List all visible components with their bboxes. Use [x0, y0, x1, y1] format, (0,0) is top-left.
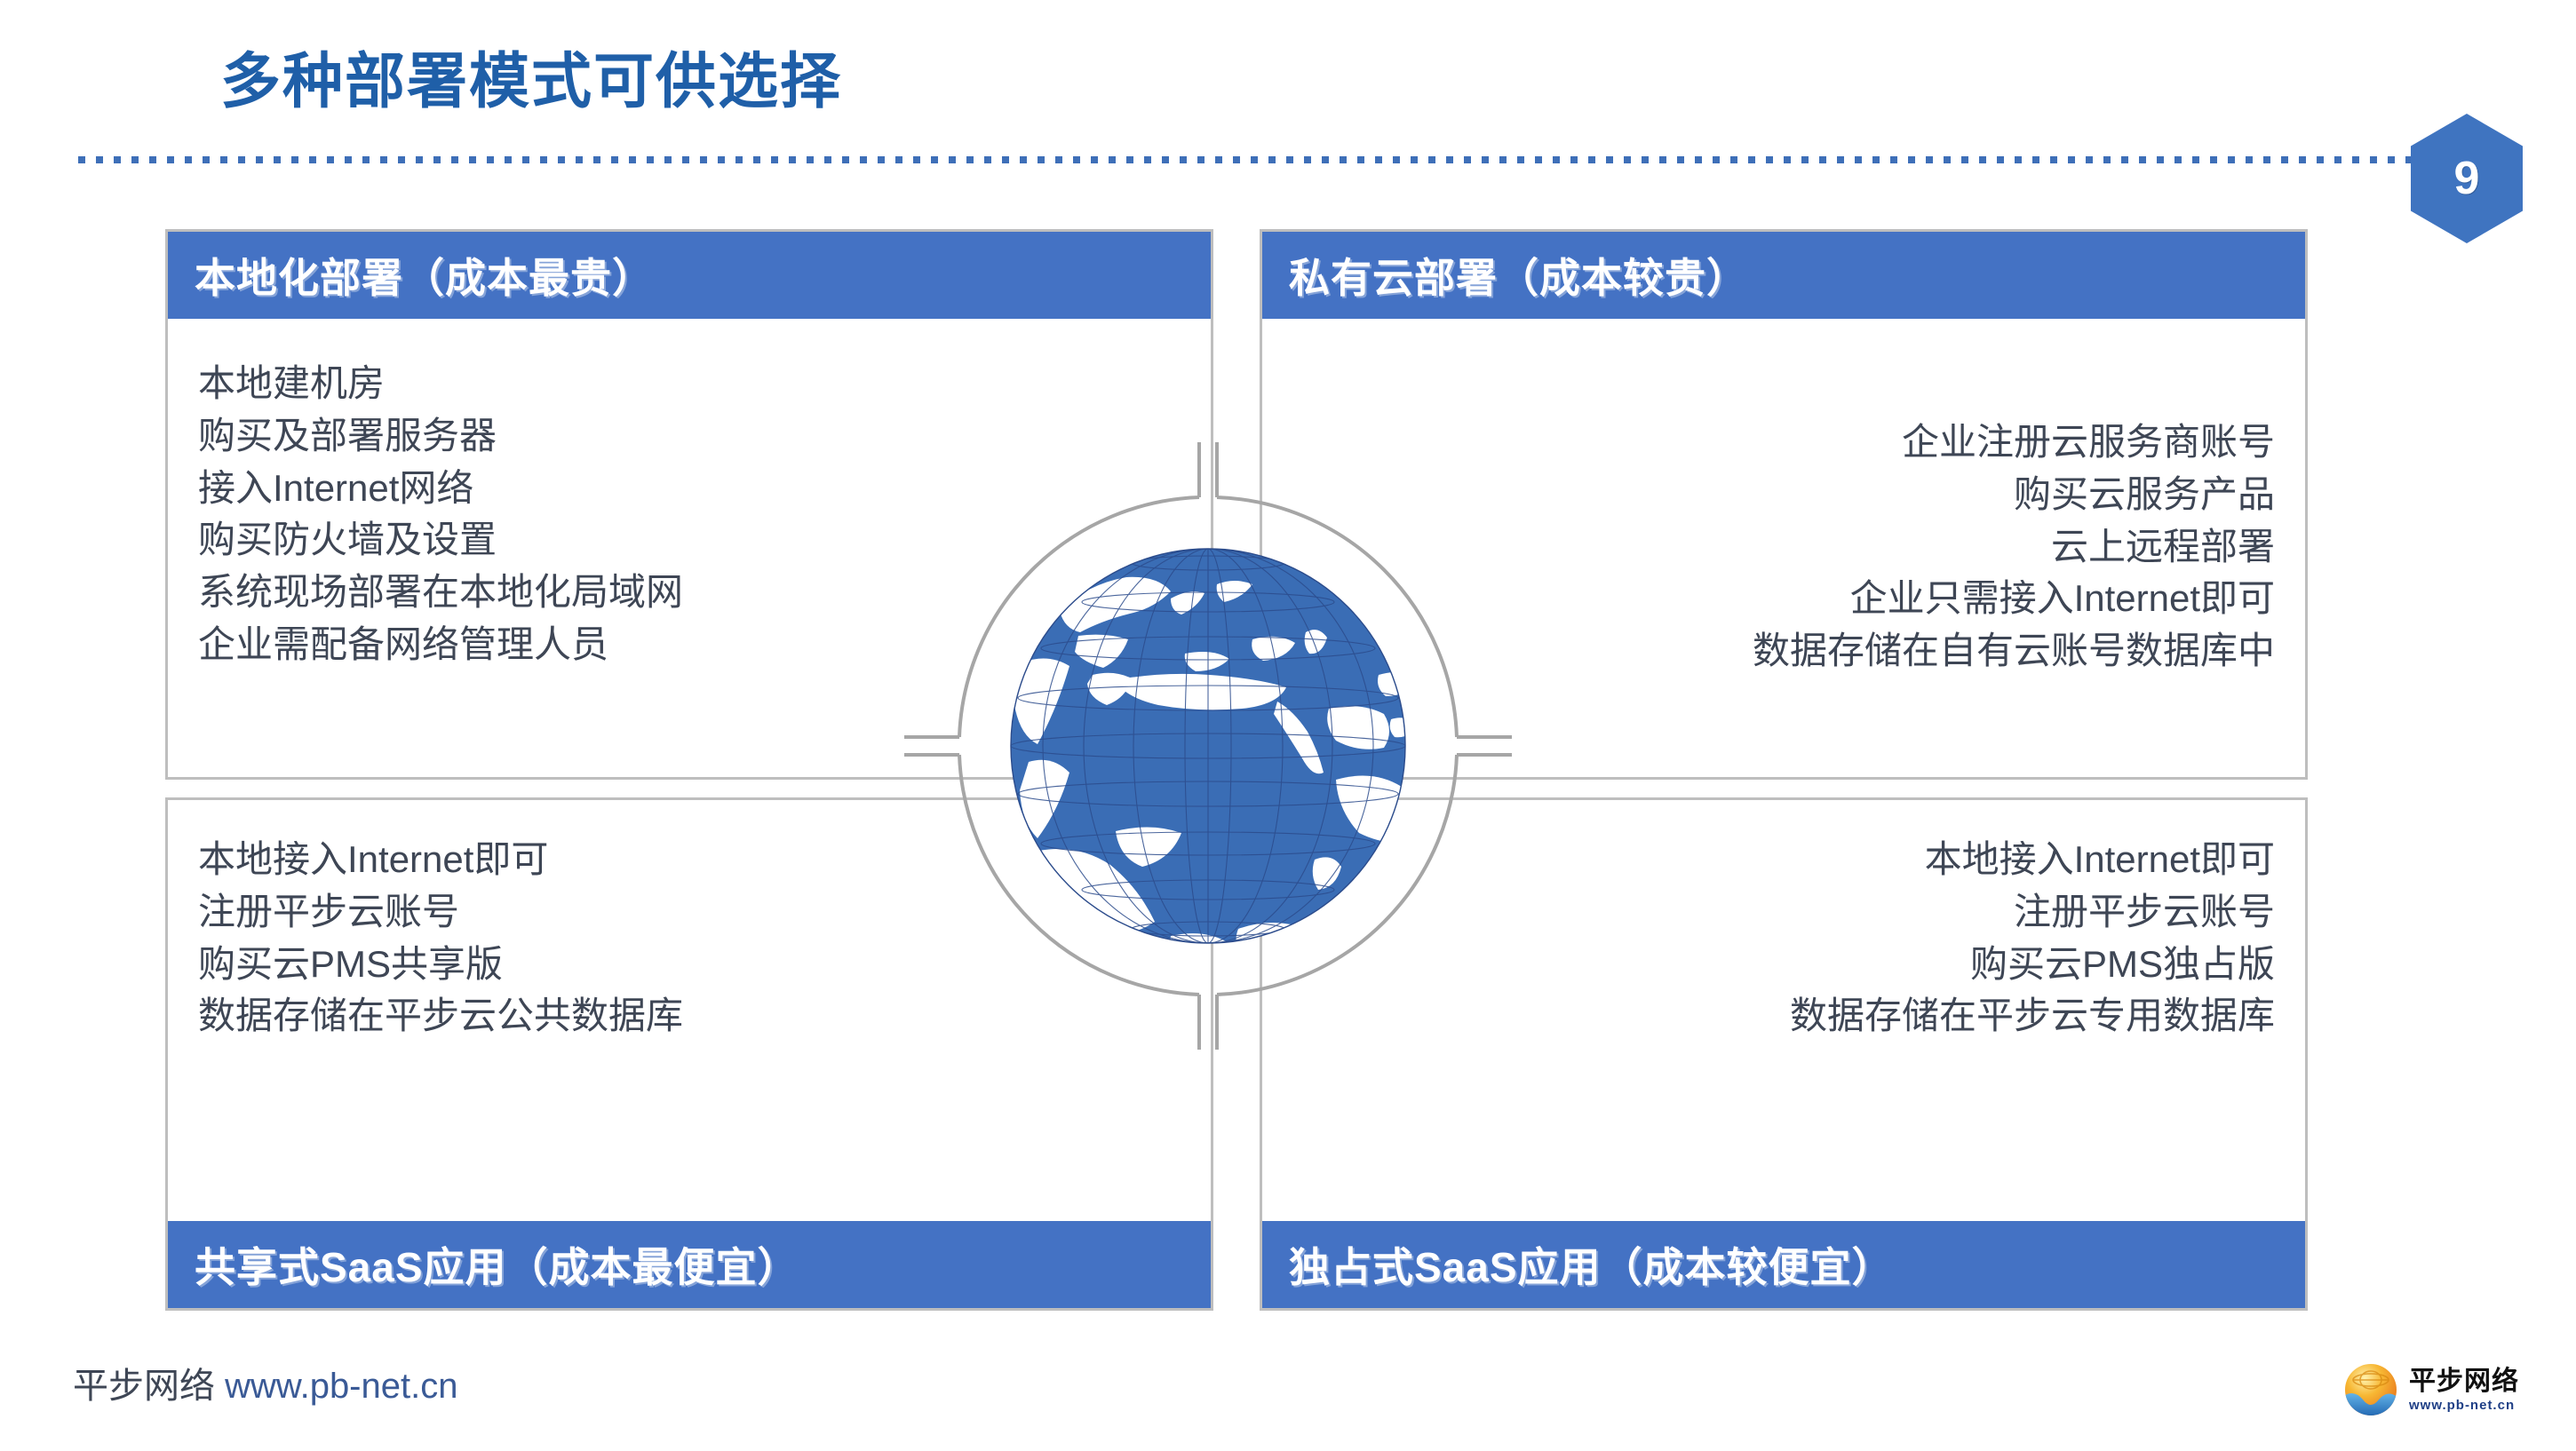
footer-company: 平步网络 [73, 1367, 215, 1406]
footer-website[interactable]: www.pb-net.cn [225, 1367, 457, 1406]
logo-company: 平步网络 [2409, 1368, 2519, 1395]
page-number-badge: 9 [2411, 114, 2523, 243]
quadrant-bottom-left-header: 共享式SaaS应用（成本最便宜） [168, 1221, 1211, 1308]
slide-canvas: 多种部署模式可供选择 9 本地化部署（成本最贵） 本地建机房 购买及部署服务器 … [0, 0, 2576, 1451]
brand-logo[interactable]: 平步网络 www.pb-net.cn [2341, 1353, 2551, 1426]
title-divider [78, 156, 2459, 163]
globe-icon [904, 442, 1512, 1050]
page-number-text: 9 [2454, 155, 2480, 202]
logo-website: www.pb-net.cn [2409, 1399, 2519, 1412]
page-title: 多种部署模式可供选择 [220, 32, 842, 120]
quadrant-top-left-header: 本地化部署（成本最贵） [168, 232, 1211, 319]
quadrant-top-right-header: 私有云部署（成本较贵） [1262, 232, 2305, 319]
pb-net-globe-logo-icon [2341, 1360, 2400, 1419]
list-item: 本地建机房 [198, 358, 1181, 410]
footer-credit: 平步网络 www.pb-net.cn [73, 1357, 457, 1408]
quadrant-bottom-right-header: 独占式SaaS应用（成本较便宜） [1262, 1221, 2305, 1308]
logo-wordmark: 平步网络 www.pb-net.cn [2409, 1368, 2519, 1412]
